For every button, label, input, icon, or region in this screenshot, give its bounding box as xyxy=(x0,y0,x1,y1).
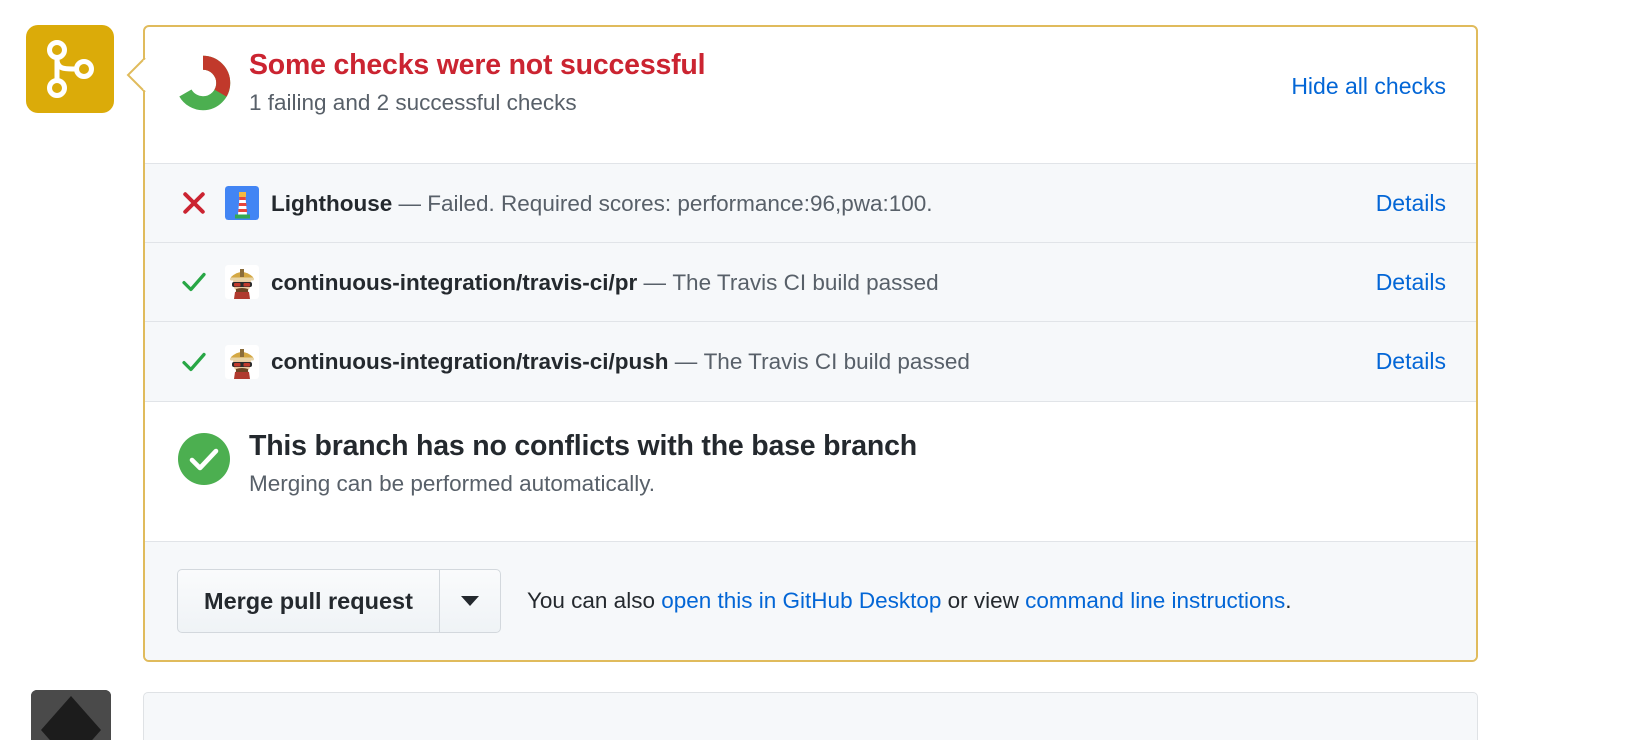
check-label: continuous-integration/travis-ci/pr — Th… xyxy=(271,269,939,296)
chevron-down-icon xyxy=(461,596,479,606)
branch-conflict-status: This branch has no conflicts with the ba… xyxy=(145,401,1476,541)
check-separator-dash: — xyxy=(644,270,667,295)
merge-status-box: Some checks were not successful 1 failin… xyxy=(143,25,1478,662)
git-merge-icon xyxy=(44,40,96,98)
merge-actions-bar: Merge pull request You can also open thi… xyxy=(145,541,1476,660)
merge-help-note: You can also open this in GitHub Desktop… xyxy=(527,588,1292,614)
checks-summary-subtitle: 1 failing and 2 successful checks xyxy=(249,89,705,116)
checks-summary-header: Some checks were not successful 1 failin… xyxy=(145,27,1476,163)
check-name: continuous-integration/travis-ci/push xyxy=(271,349,669,374)
callout-arrow-icon xyxy=(126,57,146,93)
avatar[interactable] xyxy=(31,690,111,740)
check-details-link[interactable]: Details xyxy=(1376,190,1446,217)
pull-request-merge-status-page: Some checks were not successful 1 failin… xyxy=(0,0,1644,740)
command-line-instructions-link[interactable]: command line instructions xyxy=(1025,588,1285,613)
merge-note-suffix: . xyxy=(1285,588,1291,613)
hide-all-checks-link[interactable]: Hide all checks xyxy=(1291,73,1446,100)
open-in-github-desktop-link[interactable]: open this in GitHub Desktop xyxy=(661,588,941,613)
check-label: continuous-integration/travis-ci/push — … xyxy=(271,348,970,375)
check-row[interactable]: Lighthouse — Failed. Required scores: pe… xyxy=(145,164,1476,243)
merge-note-prefix: You can also xyxy=(527,588,661,613)
check-icon xyxy=(179,267,225,297)
merge-pull-request-button[interactable]: Merge pull request xyxy=(177,569,439,633)
check-separator-dash: — xyxy=(675,349,698,374)
checks-list: Lighthouse — Failed. Required scores: pe… xyxy=(145,163,1476,401)
lighthouse-avatar-icon xyxy=(225,186,259,220)
check-details-link[interactable]: Details xyxy=(1376,348,1446,375)
check-name: continuous-integration/travis-ci/pr xyxy=(271,270,637,295)
checks-donut-icon xyxy=(175,55,231,111)
travis-ci-avatar-icon xyxy=(225,265,259,299)
check-label: Lighthouse — Failed. Required scores: pe… xyxy=(271,190,933,217)
check-description: The Travis CI build passed xyxy=(704,349,970,374)
branch-conflict-subtitle: Merging can be performed automatically. xyxy=(249,471,917,497)
check-details-link[interactable]: Details xyxy=(1376,269,1446,296)
checks-summary-title: Some checks were not successful xyxy=(249,49,705,82)
check-circle-filled-icon xyxy=(177,432,231,486)
check-row[interactable]: continuous-integration/travis-ci/pr — Th… xyxy=(145,243,1476,322)
merge-status-badge xyxy=(26,25,114,113)
check-name: Lighthouse xyxy=(271,191,392,216)
travis-ci-avatar-icon xyxy=(225,345,259,379)
merge-note-middle: or view xyxy=(941,588,1025,613)
check-description: Failed. Required scores: performance:96,… xyxy=(427,191,932,216)
next-comment-box xyxy=(143,692,1478,740)
branch-conflict-title: This branch has no conflicts with the ba… xyxy=(249,430,917,463)
check-description: The Travis CI build passed xyxy=(672,270,938,295)
merge-button-group: Merge pull request xyxy=(177,569,501,633)
check-icon xyxy=(179,347,225,377)
check-separator-dash: — xyxy=(399,191,422,216)
check-row[interactable]: continuous-integration/travis-ci/push — … xyxy=(145,322,1476,401)
x-icon xyxy=(179,188,225,218)
merge-options-dropdown-button[interactable] xyxy=(439,569,501,633)
